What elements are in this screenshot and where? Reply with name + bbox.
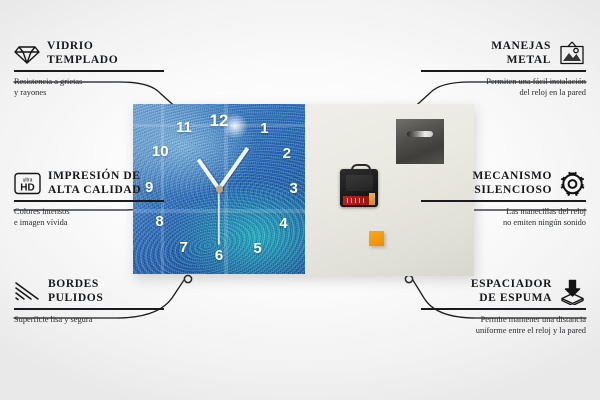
diamond-icon [14,43,40,65]
callout-description: Colores intensos e imagen vívida [14,206,164,229]
callout-title: MANEJAS METAL [491,40,551,67]
svg-text:HD: HD [20,183,34,194]
clock-numeral-11: 11 [176,120,192,135]
callout-foam-spacer: ESPACIADOR DE ESPUMA Permite mantener un… [421,278,586,336]
clock-numeral-1: 1 [260,121,268,136]
callout-description: Permiten una fácil instalación del reloj… [421,76,586,99]
clock-numeral-12: 12 [210,112,229,129]
callout-polished-edges: BORDES PULIDOS Superficie lisa y segura [14,278,164,325]
callout-description: Permite mantener una distancia uniforme … [421,314,586,337]
callout-description: Superficie lisa y segura [14,314,164,325]
clock-mechanism-box [340,169,378,207]
press-down-pad-icon [559,279,586,305]
wall-mount-picture-icon [558,41,586,66]
callout-divider [14,70,164,71]
callout-divider [421,308,586,309]
callout-title: IMPRESIÓN DE ALTA CALIDAD [48,170,141,197]
callout-description: Las manecillas del reloj no emiten ningú… [421,206,586,229]
callout-divider [421,70,586,71]
clock-numeral-2: 2 [283,146,291,161]
clock-numeral-7: 7 [179,240,187,255]
clock-numeral-10: 10 [152,144,169,159]
callout-tempered-glass: VIDRIO TEMPLADO Resistencia a grietas y … [14,40,164,98]
foam-spacer-pad [369,231,384,246]
mechanism-hanging-loop [351,164,371,175]
callout-header: ESPACIADOR DE ESPUMA [421,278,586,305]
callout-description: Resistencia a grietas y rayones [14,76,164,99]
mechanism-housing [346,175,373,191]
infographic-canvas: 12 1 2 3 4 5 6 7 8 9 10 11 [0,0,600,400]
metal-hanger-plate [396,119,444,164]
callout-divider [421,200,586,201]
clock-center-cap [216,186,223,193]
battery-indicator [369,193,375,205]
callout-title: ESPACIADOR DE ESPUMA [471,278,552,305]
callout-title: MECANISMO SILENCIOSO [472,170,552,197]
callout-title: VIDRIO TEMPLADO [47,40,118,67]
callout-divider [14,308,164,309]
callout-silent-mechanism: MECANISMO SILENCIOSO Las manecillas del … [421,170,586,228]
clock-numeral-3: 3 [290,181,298,196]
callout-title: BORDES PULIDOS [48,278,103,305]
callout-hd-print: ultra HD IMPRESIÓN DE ALTA CALIDAD Color… [14,170,164,228]
clock-numeral-4: 4 [279,216,287,231]
callout-header: ultra HD IMPRESIÓN DE ALTA CALIDAD [14,170,164,197]
ultra-hd-icon: ultra HD [14,172,41,195]
clock-numeral-5: 5 [253,241,261,256]
callout-header: MECANISMO SILENCIOSO [421,170,586,197]
clock-numeral-6: 6 [215,248,223,263]
clock-second-hand [218,189,220,245]
callout-header: VIDRIO TEMPLADO [14,40,164,67]
gear-icon [559,171,586,197]
callout-header: BORDES PULIDOS [14,278,164,305]
polished-edge-icon [14,281,41,303]
callout-header: MANEJAS METAL [421,40,586,67]
callout-metal-handles: MANEJAS METAL Permiten una fácil instala… [421,40,586,98]
hanger-slot [407,131,433,137]
callout-divider [14,200,164,201]
